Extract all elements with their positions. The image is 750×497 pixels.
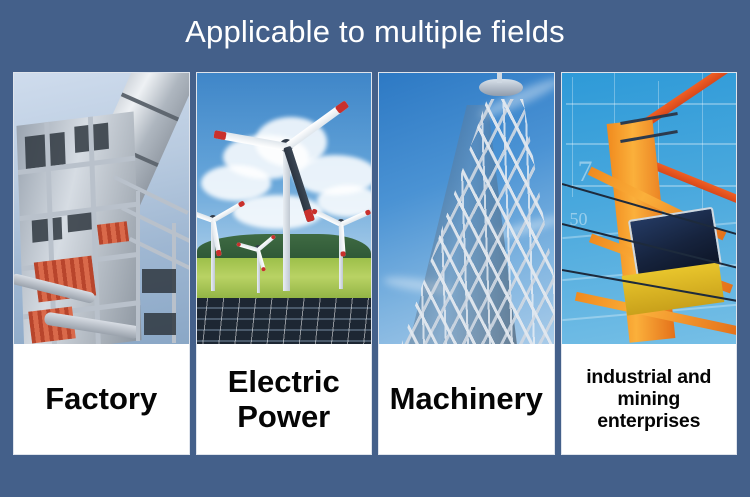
factory-plant-photo: [14, 73, 189, 344]
caption-text: Electric Power: [228, 364, 340, 435]
card-caption-factory: Factory: [14, 344, 189, 454]
caption-text: Machinery: [390, 381, 543, 416]
steel-tower-photo: [379, 73, 554, 344]
field-card-electric-power[interactable]: Electric Power: [196, 72, 373, 455]
card-caption-machinery: Machinery: [379, 344, 554, 454]
caption-text: Factory: [45, 381, 157, 416]
page-title: Applicable to multiple fields: [0, 8, 750, 56]
caption-text: industrial and mining enterprises: [564, 366, 735, 433]
card-caption-electric-power: Electric Power: [197, 344, 372, 454]
applicable-fields-banner: Applicable to multiple fields: [0, 0, 750, 497]
card-caption-industrial-mining: industrial and mining enterprises: [562, 344, 737, 454]
tower-mast: [497, 73, 502, 83]
tower-crane-photo: 7 50: [562, 73, 737, 344]
wind-farm-photo: [197, 73, 372, 344]
field-card-industrial-mining[interactable]: 7 50 industrial and: [561, 72, 738, 455]
field-card-factory[interactable]: Factory: [13, 72, 190, 455]
field-card-list: Factory: [13, 72, 737, 455]
field-card-machinery[interactable]: Machinery: [378, 72, 555, 455]
solar-panel-array: [197, 298, 372, 344]
